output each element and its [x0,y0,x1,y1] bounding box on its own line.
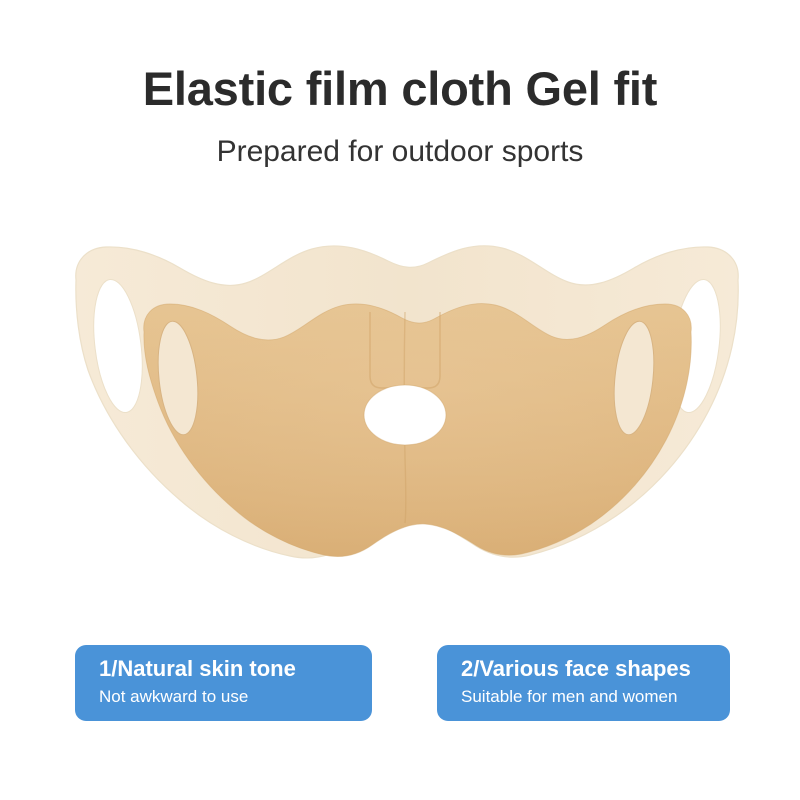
page-title: Elastic film cloth Gel fit [0,64,800,113]
feature-card-title: 2/Various face shapes [461,656,730,682]
feature-callouts: 1/Natural skin tone Not awkward to use 2… [0,645,800,723]
header-text-block: Elastic film cloth Gel fit Prepared for … [0,64,800,168]
feature-card-title: 1/Natural skin tone [99,656,372,682]
mouth-opening-cutout [364,385,446,445]
page-subtitle: Prepared for outdoor sports [0,113,800,168]
face-mask-illustration [40,228,760,598]
feature-card-various-face-shapes[interactable]: 2/Various face shapes Suitable for men a… [437,645,730,721]
feature-card-subtitle: Suitable for men and women [461,682,730,707]
product-banner: Elastic film cloth Gel fit Prepared for … [0,0,800,800]
feature-card-natural-skin-tone[interactable]: 1/Natural skin tone Not awkward to use [75,645,372,721]
product-image [40,228,760,598]
feature-card-subtitle: Not awkward to use [99,682,372,707]
